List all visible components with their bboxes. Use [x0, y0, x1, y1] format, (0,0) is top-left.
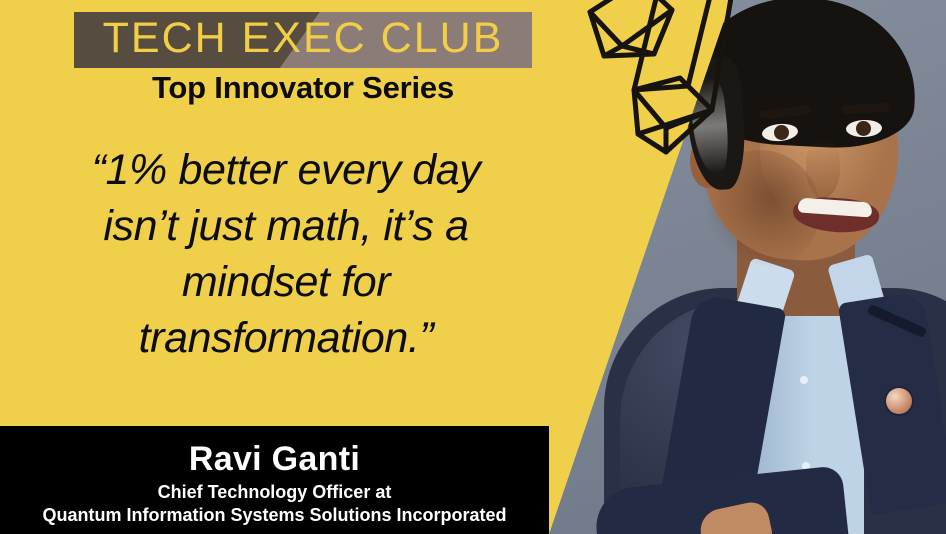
quote-line-1: “1% better every day: [16, 143, 556, 199]
lapel-pin-icon: [886, 388, 912, 414]
nose: [806, 140, 840, 198]
speaker-quote-card: TECH EXEC CLUB Top Innovator Series “1% …: [0, 0, 946, 534]
iris-left: [774, 125, 789, 140]
iris-right: [856, 121, 871, 136]
brand-logo-banner: TECH EXEC CLUB: [74, 12, 532, 68]
speaker-organization: Quantum Information Systems Solutions In…: [0, 505, 549, 526]
geometric-cubes-decoration: [548, 0, 748, 184]
speaker-role: Chief Technology Officer at: [0, 482, 549, 503]
quote-line-4: transformation.”: [16, 311, 556, 367]
shirt-button: [800, 376, 808, 384]
quote-line-2: isn’t just math, it’s a: [16, 199, 556, 255]
speaker-name: Ravi Ganti: [0, 440, 549, 479]
quote-line-3: mindset for: [16, 255, 556, 311]
series-subtitle: Top Innovator Series: [74, 70, 532, 106]
quote-text: “1% better every day isn’t just math, it…: [16, 143, 556, 367]
brand-name: TECH EXEC CLUB: [74, 12, 532, 68]
